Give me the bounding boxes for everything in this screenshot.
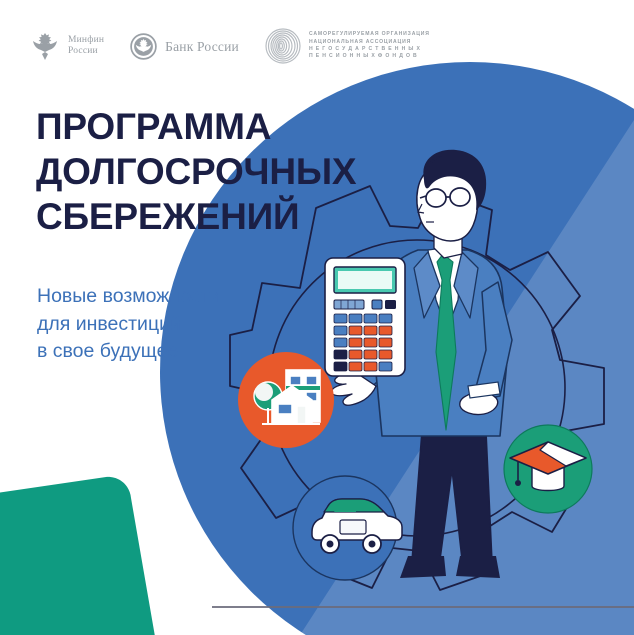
house-benefit-icon [238,352,334,448]
graduation-cap-benefit-icon [504,425,592,513]
logo-napf-label: САМОРЕГУЛИРУЕМАЯ ОРГАНИЗАЦИЯ НАЦИОНАЛЬНА… [309,31,430,61]
logo-bank-rossii-label: Банк России [165,39,239,54]
calculator-icon [325,258,405,376]
bank-rossii-emblem-icon [130,33,157,60]
page-title: ПРОГРАММА ДОЛГОСРОЧНЫХ СБЕРЕЖЕНИЙ [36,104,356,239]
logo-napf: САМОРЕГУЛИРУЕМАЯ ОРГАНИЗАЦИЯ НАЦИОНАЛЬНА… [265,28,430,64]
poster-canvas: Минфин России Банк России [0,0,634,635]
teal-corner-block-fill [0,515,80,635]
double-headed-eagle-icon [30,30,60,62]
logo-minfin: Минфин России [30,30,104,62]
logo-bar: Минфин России Банк России [30,28,430,64]
napf-spiral-icon [265,28,301,64]
logo-bank-rossii: Банк России [130,33,239,60]
logo-minfin-label: Минфин России [68,35,104,57]
page-subtitle: Новые возможности для инвестиций в свое … [37,283,221,366]
person-shoe-right [456,556,500,578]
person-shoe-left [400,556,446,578]
